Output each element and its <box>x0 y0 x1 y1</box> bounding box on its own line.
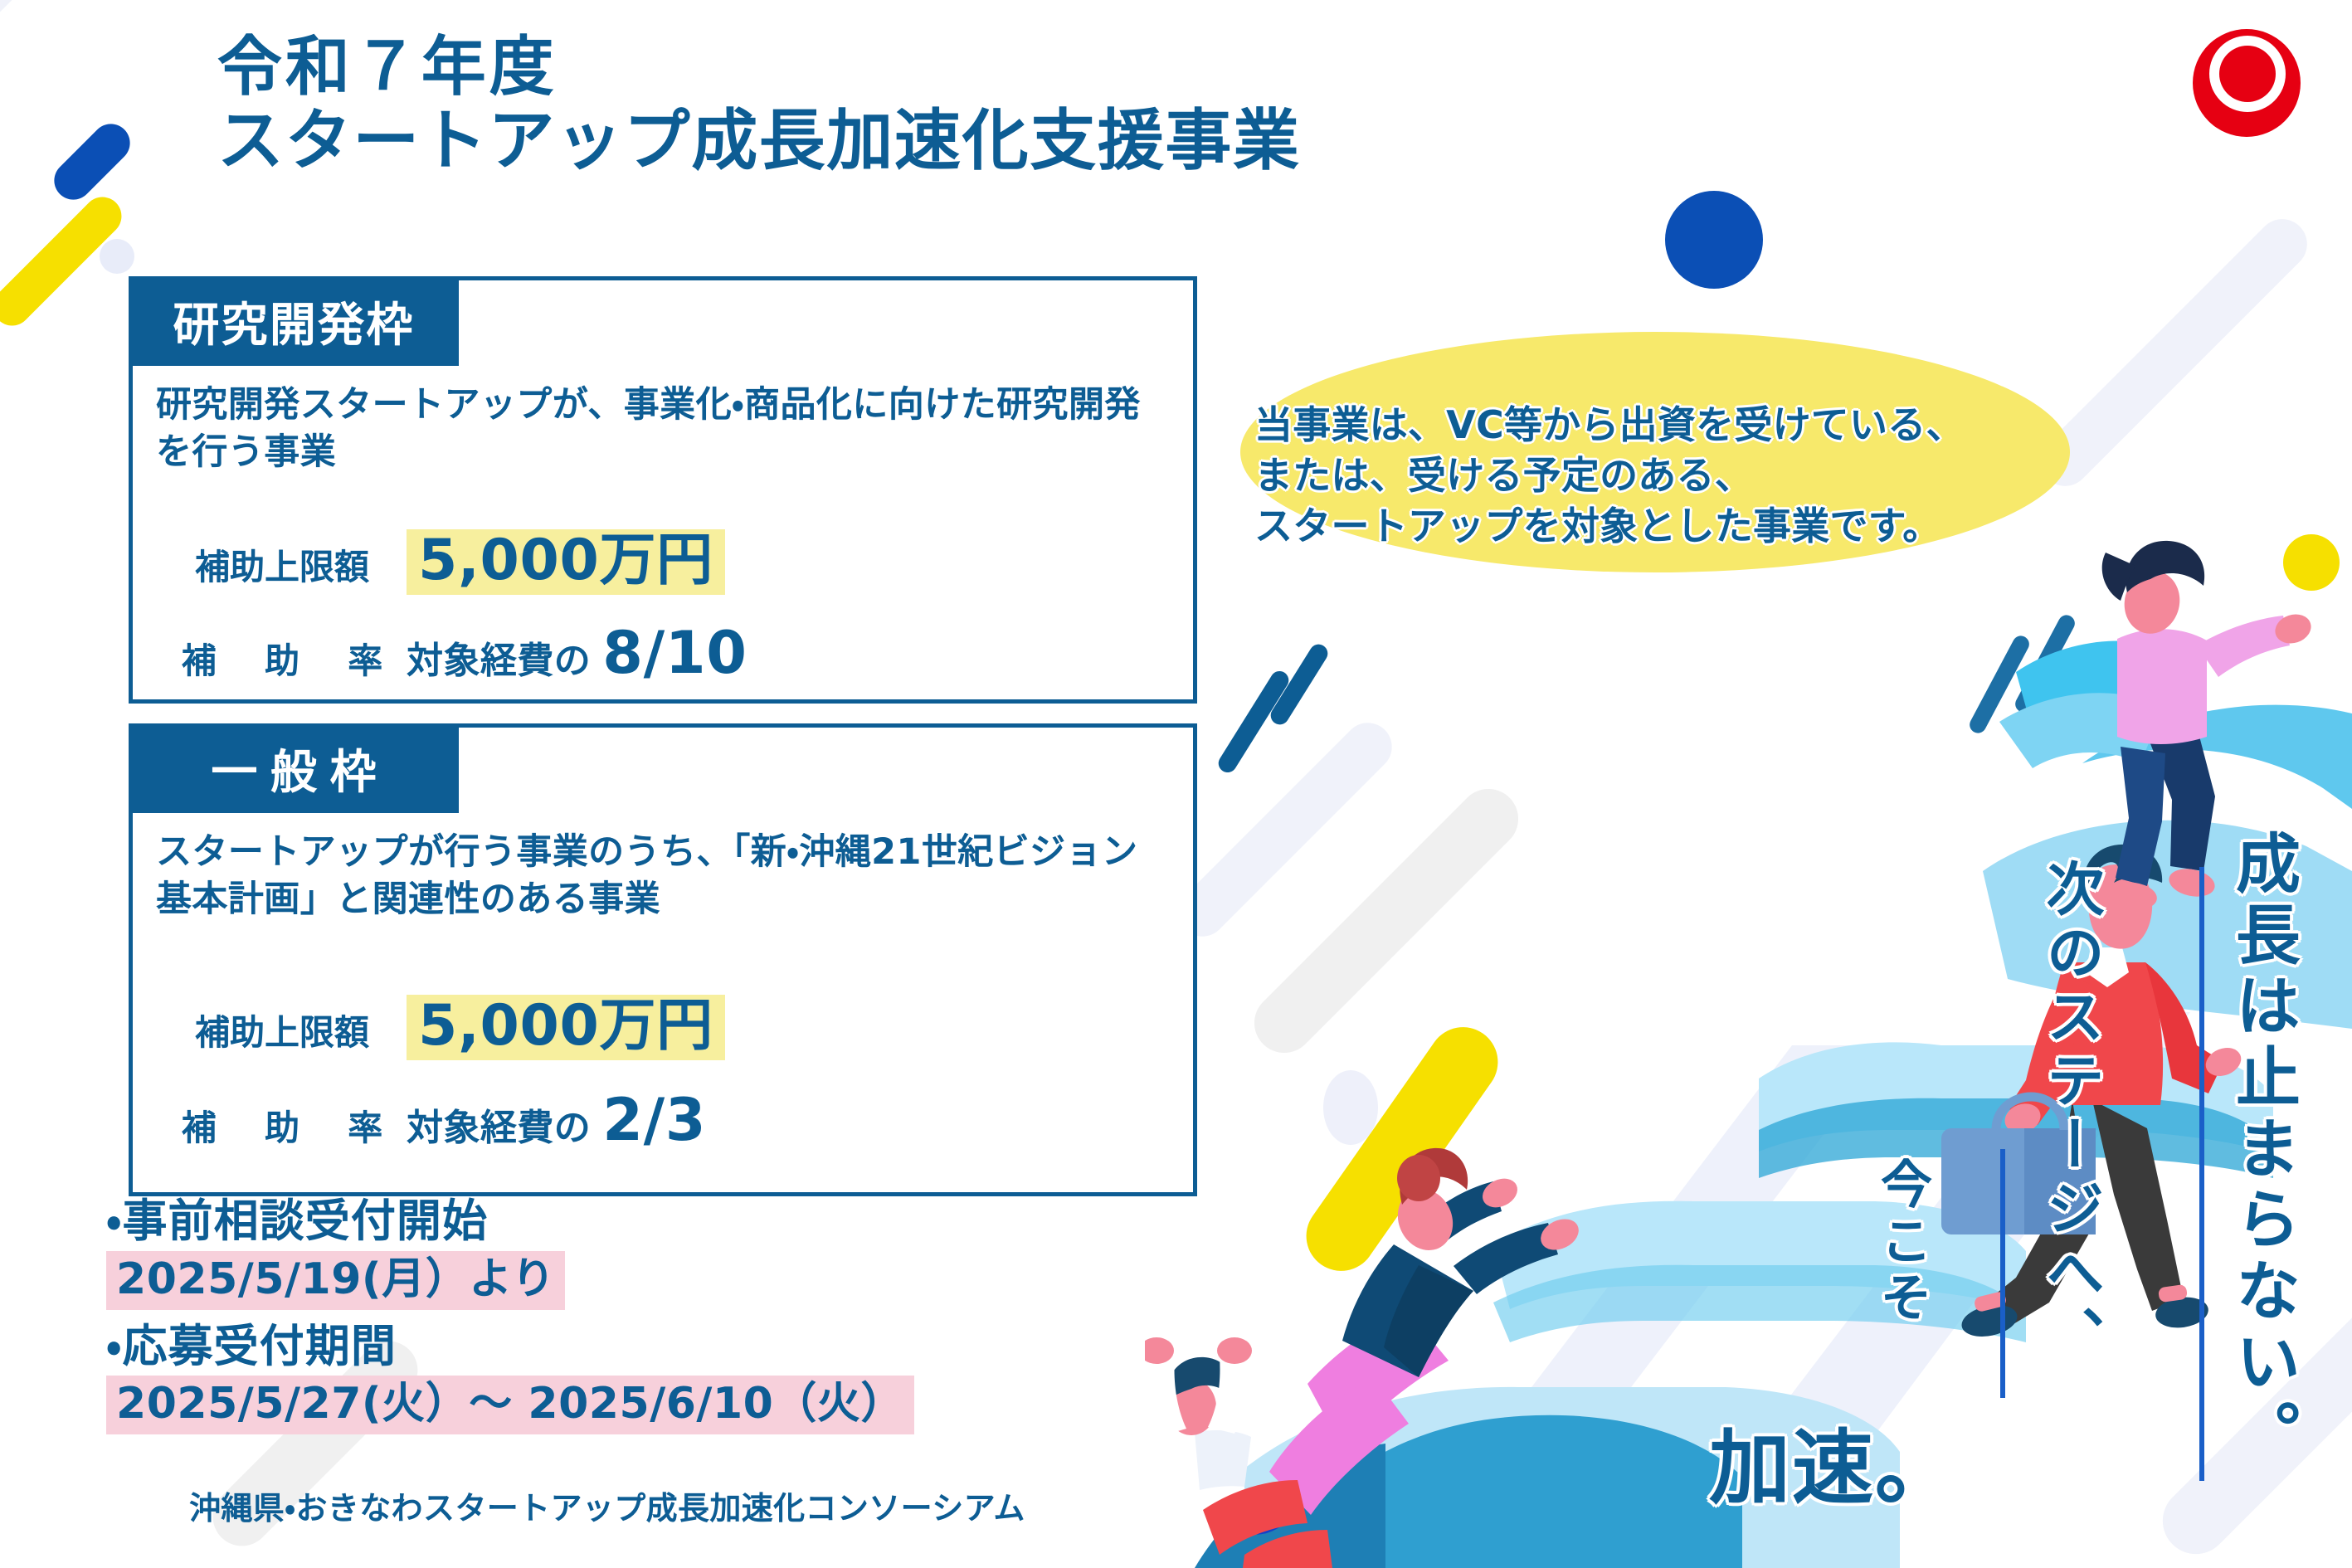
subsidy-limit-row-general: 補助上限額 5,000万円 <box>158 995 725 1060</box>
diagonal-stripe <box>0 0 55 432</box>
vertical-rule <box>2199 867 2204 1481</box>
diagonal-stripe <box>0 0 141 353</box>
scheme-box-research: 研究開発枠 研究開発スタートアップが、事業化・商品化に向けた研究開発を行う事業 … <box>129 276 1197 704</box>
poster-canvas: 令和７年度 スタートアップ成長加速化支援事業 当事業は、VC等から出資を受けてい… <box>0 0 2352 1568</box>
vertical-rule <box>2000 1149 2005 1398</box>
scheme-badge-research: 研究開発枠 <box>129 276 459 366</box>
slogan-accelerate: 加速。 <box>1709 1402 1958 1520</box>
blue-dash <box>46 116 138 207</box>
slogan-now: 今こそ <box>1864 1157 1939 1327</box>
subsidy-limit-value: 5,000万円 <box>407 995 725 1060</box>
eligibility-note: 当事業は、VC等から出資を受けている、 または、受ける予定のある、 スタートアッ… <box>1254 400 2175 553</box>
subsidy-ratio-label: 補 助 率 <box>158 1100 407 1151</box>
yellow-dot <box>2283 534 2340 591</box>
organizer-line: 沖縄県・おきなわスタートアップ成長加速化コンソーシアム <box>189 1483 1025 1528</box>
subsidy-limit-label: 補助上限額 <box>158 539 407 590</box>
title-line-program-name: スタートアップ成長加速化支援事業 <box>217 104 1301 178</box>
subsidy-ratio-value: 8/10 <box>602 619 747 687</box>
note-line-1: 当事業は、VC等から出資を受けている、 <box>1254 400 2175 450</box>
subsidy-limit-value: 5,000万円 <box>407 529 725 595</box>
deadline-heading-preconsultation: ・事前相談受付開始 <box>106 1195 1268 1248</box>
subsidy-ratio-value: 2/3 <box>602 1086 706 1154</box>
pale-dot <box>100 239 134 274</box>
scheme-box-general: 一般枠 スタートアップが行う事業のうち、「新・沖縄21世紀ビジョン基本計画」と関… <box>129 723 1197 1196</box>
deadline-date-application: 2025/5/27(火）～ 2025/6/10（火） <box>106 1376 914 1434</box>
yellow-dash <box>0 189 129 334</box>
blue-circle-accent <box>1665 191 1763 289</box>
note-line-3: スタートアップを対象とした事業です。 <box>1254 501 2175 552</box>
deadline-block: ・事前相談受付開始 2025/5/19(月）より ・応募受付期間 2025/5/… <box>106 1195 1268 1444</box>
title-line-fiscal-year: 令和７年度 <box>217 32 1301 104</box>
subsidy-limit-label: 補助上限額 <box>158 1005 407 1055</box>
poster-title: 令和７年度 スタートアップ成長加速化支援事業 <box>217 32 1301 178</box>
scheme-description-research: 研究開発スタートアップが、事業化・商品化に向けた研究開発を行う事業 <box>156 382 1168 476</box>
subsidy-ratio-label: 補 助 率 <box>158 633 407 684</box>
slogan-growth: 成長は止まらない。 <box>2216 830 2309 1470</box>
subsidy-ratio-prefix: 対象経費の <box>407 1098 591 1151</box>
note-line-2: または、受ける予定のある、 <box>1254 450 2175 501</box>
deadline-date-preconsultation: 2025/5/19(月）より <box>106 1251 565 1310</box>
okinawa-logo <box>2140 0 2352 166</box>
okinawa-prefecture-emblem-icon <box>2193 29 2301 137</box>
scheme-description-general: スタートアップが行う事業のうち、「新・沖縄21世紀ビジョン基本計画」と関連性のあ… <box>156 829 1168 923</box>
subsidy-ratio-prefix: 対象経費の <box>407 631 591 684</box>
diagonal-stripe <box>0 0 164 153</box>
slogan-next-stage: 次のステージへ、 <box>2029 859 2113 1370</box>
subsidy-ratio-row-research: 補 助 率 対象経費の 8/10 <box>158 619 747 687</box>
subsidy-ratio-row-general: 補 助 率 対象経費の 2/3 <box>158 1086 706 1154</box>
scheme-badge-general: 一般枠 <box>129 723 459 813</box>
subsidy-limit-row-research: 補助上限額 5,000万円 <box>158 529 725 595</box>
deadline-heading-application: ・応募受付期間 <box>106 1320 1268 1373</box>
